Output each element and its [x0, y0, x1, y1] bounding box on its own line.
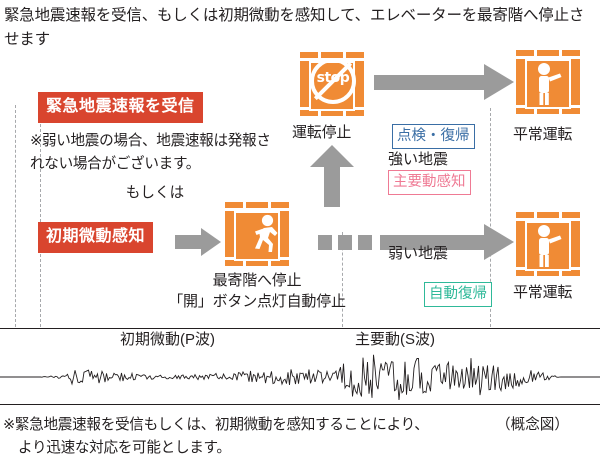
caption-operation-stopped: 運転停止: [292, 122, 351, 143]
elevator-cab-normal-top-icon: [516, 50, 580, 114]
tag-auto-recovery: 自動復帰: [424, 282, 492, 307]
stop-sign-icon: stop: [310, 58, 356, 104]
tag-eew-received: 緊急地震速報を受信: [38, 92, 203, 123]
label-strong-quake: 強い地震: [388, 150, 448, 170]
caption-nearest-floor-line2: 「開」ボタン点灯自動停止: [167, 291, 347, 312]
seismogram-waveform: [0, 329, 600, 403]
caption-normal-operation-top: 平常運転: [513, 124, 572, 145]
footer-line2: より迅速な対応を可能とします。: [3, 437, 473, 460]
label-weak-quake: 弱い地震: [388, 244, 448, 264]
seismogram-bottom-rule: [0, 404, 600, 405]
guide-line-eew: [15, 105, 16, 327]
running-person-icon: [225, 202, 289, 266]
caption-nearest-floor-line1: 最寄階へ停止: [167, 270, 347, 291]
tag-inspection-recovery: 点検・復帰: [392, 124, 475, 149]
arrow-up-icon: [310, 145, 354, 207]
standing-person-icon: [516, 50, 580, 114]
standing-person-icon: [516, 212, 580, 276]
elevator-cab-nearest-floor-icon: [225, 202, 289, 266]
arrow-right-long-icon: [374, 64, 514, 100]
note-or: もしくは: [30, 182, 280, 204]
footer-line1: ※緊急地震速報を受信もしくは、初期微動を感知することにより、: [3, 417, 429, 433]
footer-note: ※緊急地震速報を受信もしくは、初期微動を感知することにより、 より迅速な対応を可…: [3, 414, 473, 460]
caption-normal-operation-bottom: 平常運転: [513, 282, 572, 303]
conceptual-diagram-note: （概念図）: [496, 414, 569, 437]
caption-nearest-floor: 最寄階へ停止 「開」ボタン点灯自動停止: [167, 270, 347, 312]
tag-main-motion-detected: 主要動感知: [388, 170, 471, 195]
arrow-right-small-icon: [175, 228, 221, 256]
page-title: 緊急地震速報を受信、もしくは初期微動を感知して、エレベーターを最寄階へ停止させま…: [4, 4, 596, 52]
tag-pwave-detected: 初期微動感知: [38, 222, 153, 253]
diagram-canvas: 緊急地震速報を受信、もしくは初期微動を感知して、エレベーターを最寄階へ停止させま…: [0, 0, 600, 459]
elevator-cab-normal-bottom-icon: [516, 212, 580, 276]
note-weak-quake: ※弱い地震の場合、地震速報は発報されない場合がございます。: [30, 130, 280, 176]
